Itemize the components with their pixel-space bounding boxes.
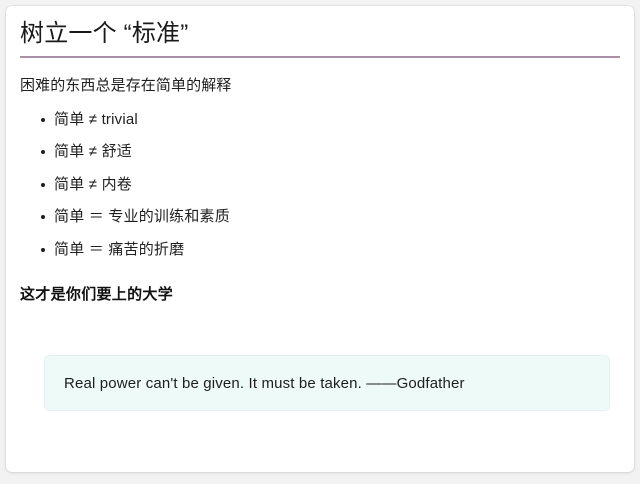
- bullet-dot-icon: [41, 150, 45, 154]
- bullet-dot-icon: [41, 215, 45, 219]
- list-item-label: 简单 ≠ trivial: [54, 111, 138, 128]
- list-item: 简单 ≠ 舒适: [20, 141, 620, 164]
- slide-card: 树立一个 “标准” 困难的东西总是存在简单的解释 简单 ≠ trivial 简单…: [6, 6, 634, 472]
- quote-callout-box: Real power can't be given. It must be ta…: [44, 355, 610, 411]
- list-item: 简单 ≠ 内卷: [20, 174, 620, 197]
- lead-paragraph: 困难的东西总是存在简单的解释: [20, 75, 620, 97]
- emphasis-line: 这才是你们要上的大学: [20, 284, 620, 305]
- title-block: 树立一个 “标准”: [20, 6, 620, 58]
- list-item: 简单 ＝ 专业的训练和素质: [20, 206, 620, 229]
- bullet-dot-icon: [41, 118, 45, 122]
- bullet-dot-icon: [41, 248, 45, 252]
- page-title: 树立一个 “标准”: [20, 19, 620, 56]
- list-item-label: 简单 ＝ 痛苦的折磨: [54, 241, 184, 258]
- quote-text: Real power can't be given. It must be ta…: [64, 373, 465, 394]
- list-item: 简单 ≠ trivial: [20, 109, 620, 132]
- list-item: 简单 ＝ 痛苦的折磨: [20, 239, 620, 262]
- list-item-label: 简单 ≠ 内卷: [54, 176, 132, 193]
- list-item-label: 简单 ≠ 舒适: [54, 143, 132, 160]
- list-item-label: 简单 ＝ 专业的训练和素质: [54, 208, 230, 225]
- bullet-list: 简单 ≠ trivial 简单 ≠ 舒适 简单 ≠ 内卷 简单 ＝ 专业的训练和…: [20, 109, 620, 262]
- title-underline-rule: [20, 56, 620, 58]
- bullet-dot-icon: [41, 183, 45, 187]
